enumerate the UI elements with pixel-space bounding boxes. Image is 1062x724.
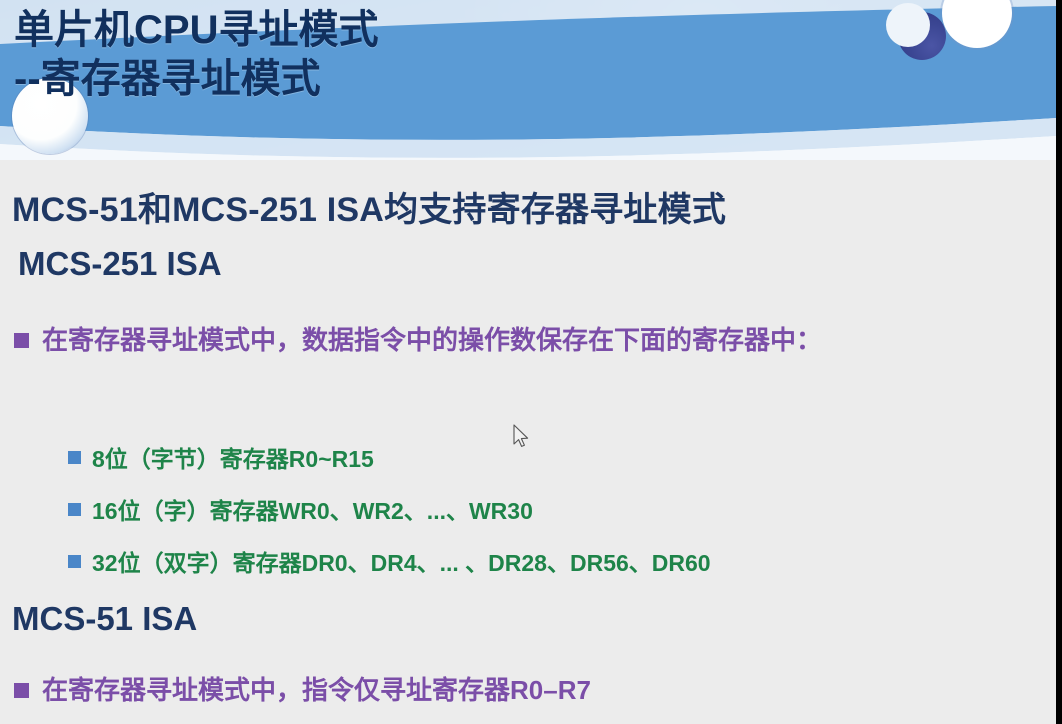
square-bullet-icon bbox=[68, 503, 81, 516]
letterbox-bar-right bbox=[1056, 0, 1062, 724]
bullet-level1-label: 在寄存器寻址模式中，数据指令中的操作数保存在下面的寄存器中： bbox=[42, 320, 1042, 360]
square-bullet-icon bbox=[68, 451, 81, 464]
bullet-item-level1: 在寄存器寻址模式中，数据指令中的操作数保存在下面的寄存器中： bbox=[14, 320, 1044, 360]
slide-title-line-1: 单片机CPU寻址模式 bbox=[14, 8, 378, 53]
bullet-item-level2: 16位（字）寄存器WR0、WR2、...、WR30 bbox=[68, 492, 533, 526]
square-bullet-icon bbox=[14, 333, 29, 348]
slide-body: MCS-51和MCS-251 ISA均支持寄存器寻址模式 MCS-251 ISA… bbox=[0, 160, 1056, 724]
slide-title: 单片机CPU寻址模式 --寄存器寻址模式 bbox=[14, 8, 378, 102]
square-bullet-icon bbox=[14, 683, 29, 698]
bullet-item-level2: 8位（字节）寄存器R0~R15 bbox=[68, 440, 374, 474]
body-heading-primary: MCS-51和MCS-251 ISA均支持寄存器寻址模式 bbox=[12, 182, 726, 231]
bullet-level2-label: 16位（字）寄存器WR0、WR2、...、WR30 bbox=[92, 492, 533, 526]
bullet-item-level1: 在寄存器寻址模式中，指令仅寻址寄存器R0–R7 bbox=[14, 670, 1014, 710]
slide-header-banner: 环球资源网 单片机CPU寻址模式 --寄存器寻址模式 bbox=[0, 0, 1056, 160]
slide-title-line-2: --寄存器寻址模式 bbox=[14, 57, 378, 102]
crescent-moon-cutout bbox=[886, 3, 930, 47]
body-heading-mcs51: MCS-51 ISA bbox=[12, 600, 197, 638]
body-heading-mcs251: MCS-251 ISA bbox=[18, 245, 222, 283]
bullet-level2-label: 8位（字节）寄存器R0~R15 bbox=[92, 440, 374, 474]
bullet-level2-label: 32位（双字）寄存器DR0、DR4、... 、DR28、DR56、DR60 bbox=[92, 544, 711, 578]
square-bullet-icon bbox=[68, 555, 81, 568]
bullet-item-level2: 32位（双字）寄存器DR0、DR4、... 、DR28、DR56、DR60 bbox=[68, 544, 711, 578]
presentation-slide: 环球资源网 单片机CPU寻址模式 --寄存器寻址模式 MCS-51和MCS-25… bbox=[0, 0, 1062, 724]
bullet-level1-label: 在寄存器寻址模式中，指令仅寻址寄存器R0–R7 bbox=[42, 670, 591, 710]
